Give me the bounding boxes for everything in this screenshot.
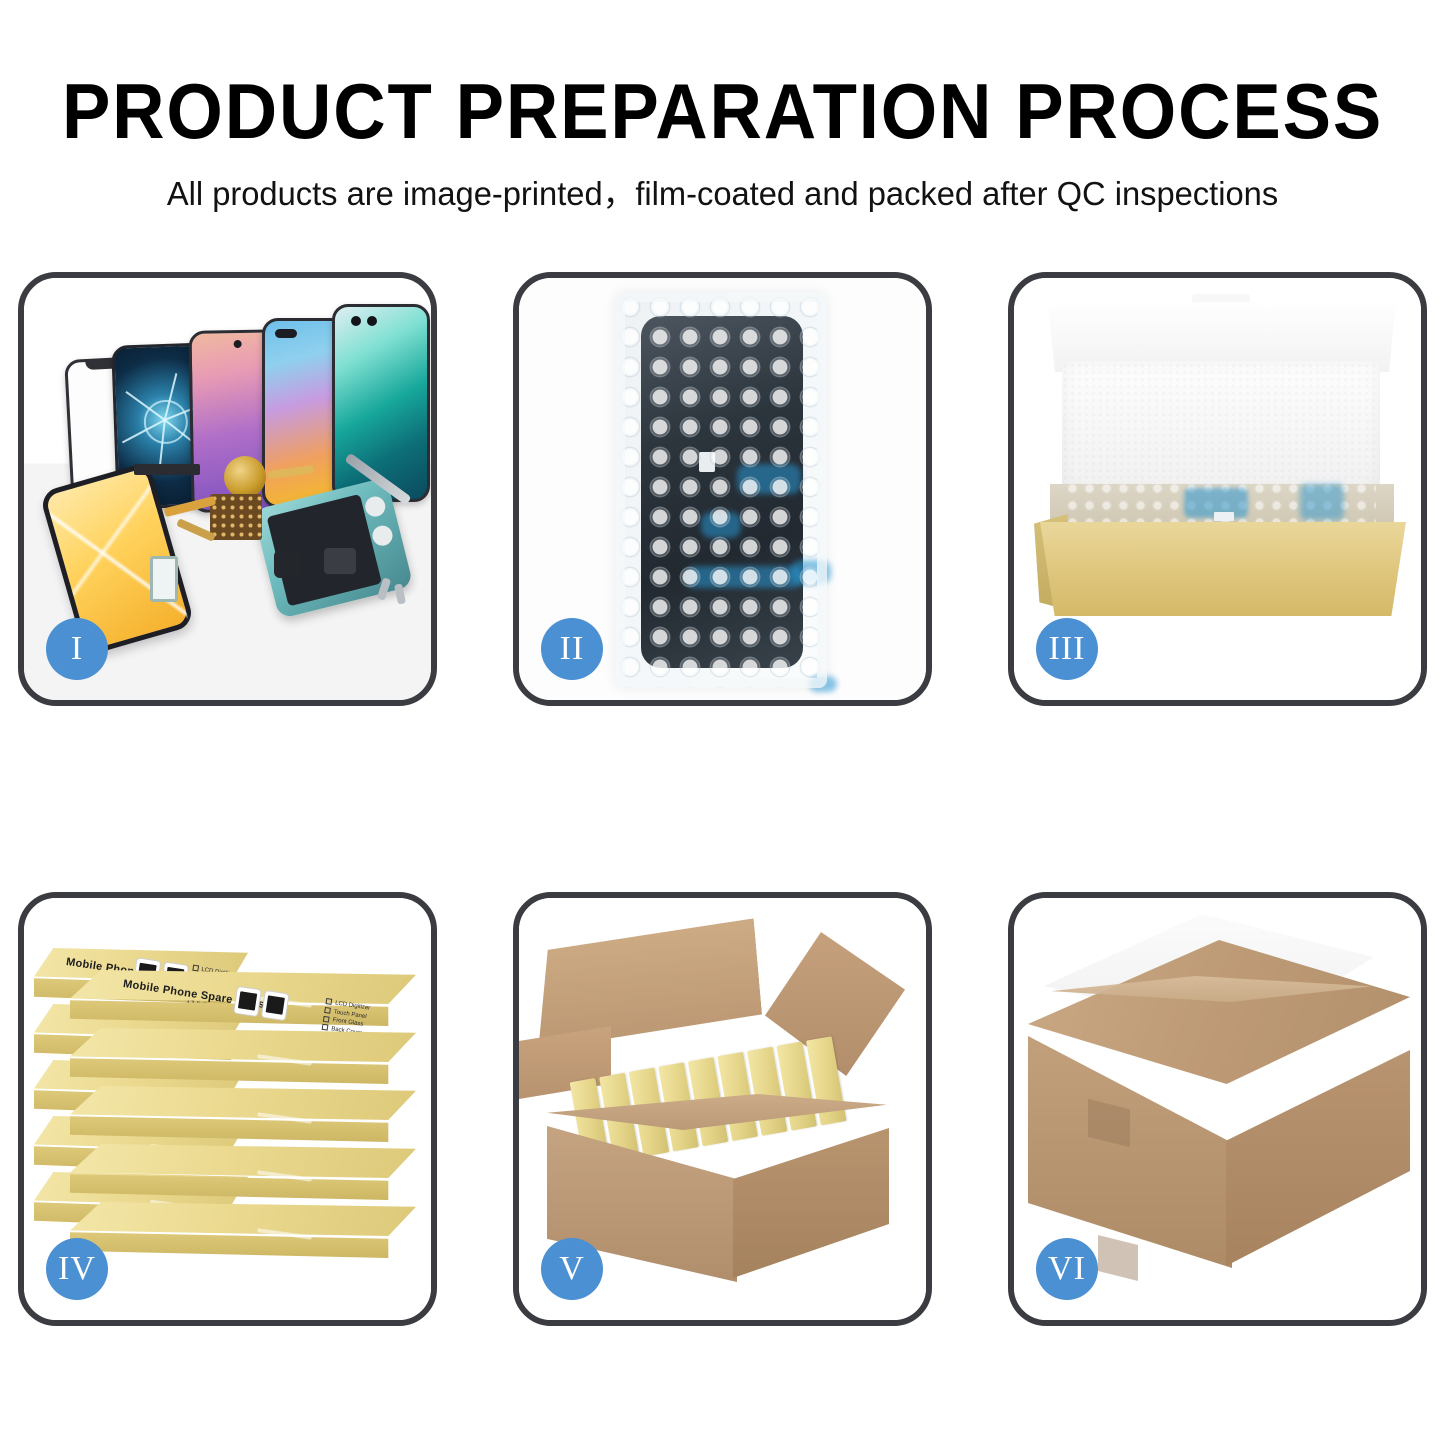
step-panel-1: I: [18, 272, 437, 706]
page-title: PRODUCT PREPARATION PROCESS: [51, 72, 1395, 150]
gold-box: [70, 1028, 416, 1082]
step-panel-6: VI: [1008, 892, 1427, 1326]
sleeve-edge: [615, 292, 827, 688]
step-panel-2: II: [513, 272, 932, 706]
step-panel-4: Mobile Phone Spare Parts LCD Digitizer T…: [18, 892, 437, 1326]
gold-box-stack-front: Mobile Phone Spare Parts LCD Digitizer T…: [70, 970, 416, 1276]
step-4-image: Mobile Phone Spare Parts LCD Digitizer T…: [24, 898, 431, 1320]
bubble-wrapped-item: [1064, 480, 1376, 528]
infographic-page: PRODUCT PREPARATION PROCESS All products…: [0, 0, 1445, 1445]
bubble-sleeve: [615, 292, 827, 688]
process-grid: I: [0, 272, 1445, 1332]
foam-sheet: [1062, 362, 1380, 492]
wireless-coil-part: [224, 456, 266, 498]
step-panel-5: V: [513, 892, 932, 1326]
battery-connector-part: [134, 464, 200, 475]
green-screen-icon: [332, 304, 430, 502]
step-badge-2: II: [541, 618, 603, 680]
carton-flap-back: [529, 918, 764, 1049]
gold-box: [70, 1202, 416, 1256]
box-front-wall: [1040, 522, 1406, 616]
step-badge-6: VI: [1036, 1238, 1098, 1300]
step-badge-5: V: [541, 1238, 603, 1300]
step-6-image: VI: [1014, 898, 1421, 1320]
gold-box: [70, 1144, 416, 1198]
step-3-image: III: [1014, 278, 1421, 700]
header: PRODUCT PREPARATION PROCESS All products…: [0, 0, 1445, 210]
chip-array-part: [210, 494, 262, 540]
speaker-part: [324, 548, 356, 574]
carton-side-face: [1226, 1050, 1410, 1266]
tape-patch: [1098, 1235, 1138, 1281]
step-panel-3: III: [1008, 272, 1427, 706]
step-badge-4: IV: [46, 1238, 108, 1300]
step-1-image: I: [24, 278, 431, 700]
step-5-image: V: [519, 898, 926, 1320]
page-subtitle: All products are image-printed，film-coat…: [7, 177, 1438, 210]
carton-side-face: [733, 1128, 889, 1278]
sim-tray-part: [150, 556, 178, 602]
gold-box: Mobile Phone Spare Parts LCD Digitizer T…: [70, 970, 416, 1024]
step-badge-1: I: [46, 618, 108, 680]
step-badge-3: III: [1036, 618, 1098, 680]
step-2-image: II: [519, 278, 926, 700]
gold-box: [70, 1086, 416, 1140]
carton-rim: [547, 1094, 887, 1130]
camera-module-part: [274, 550, 302, 578]
sealed-carton: [1028, 940, 1410, 1274]
